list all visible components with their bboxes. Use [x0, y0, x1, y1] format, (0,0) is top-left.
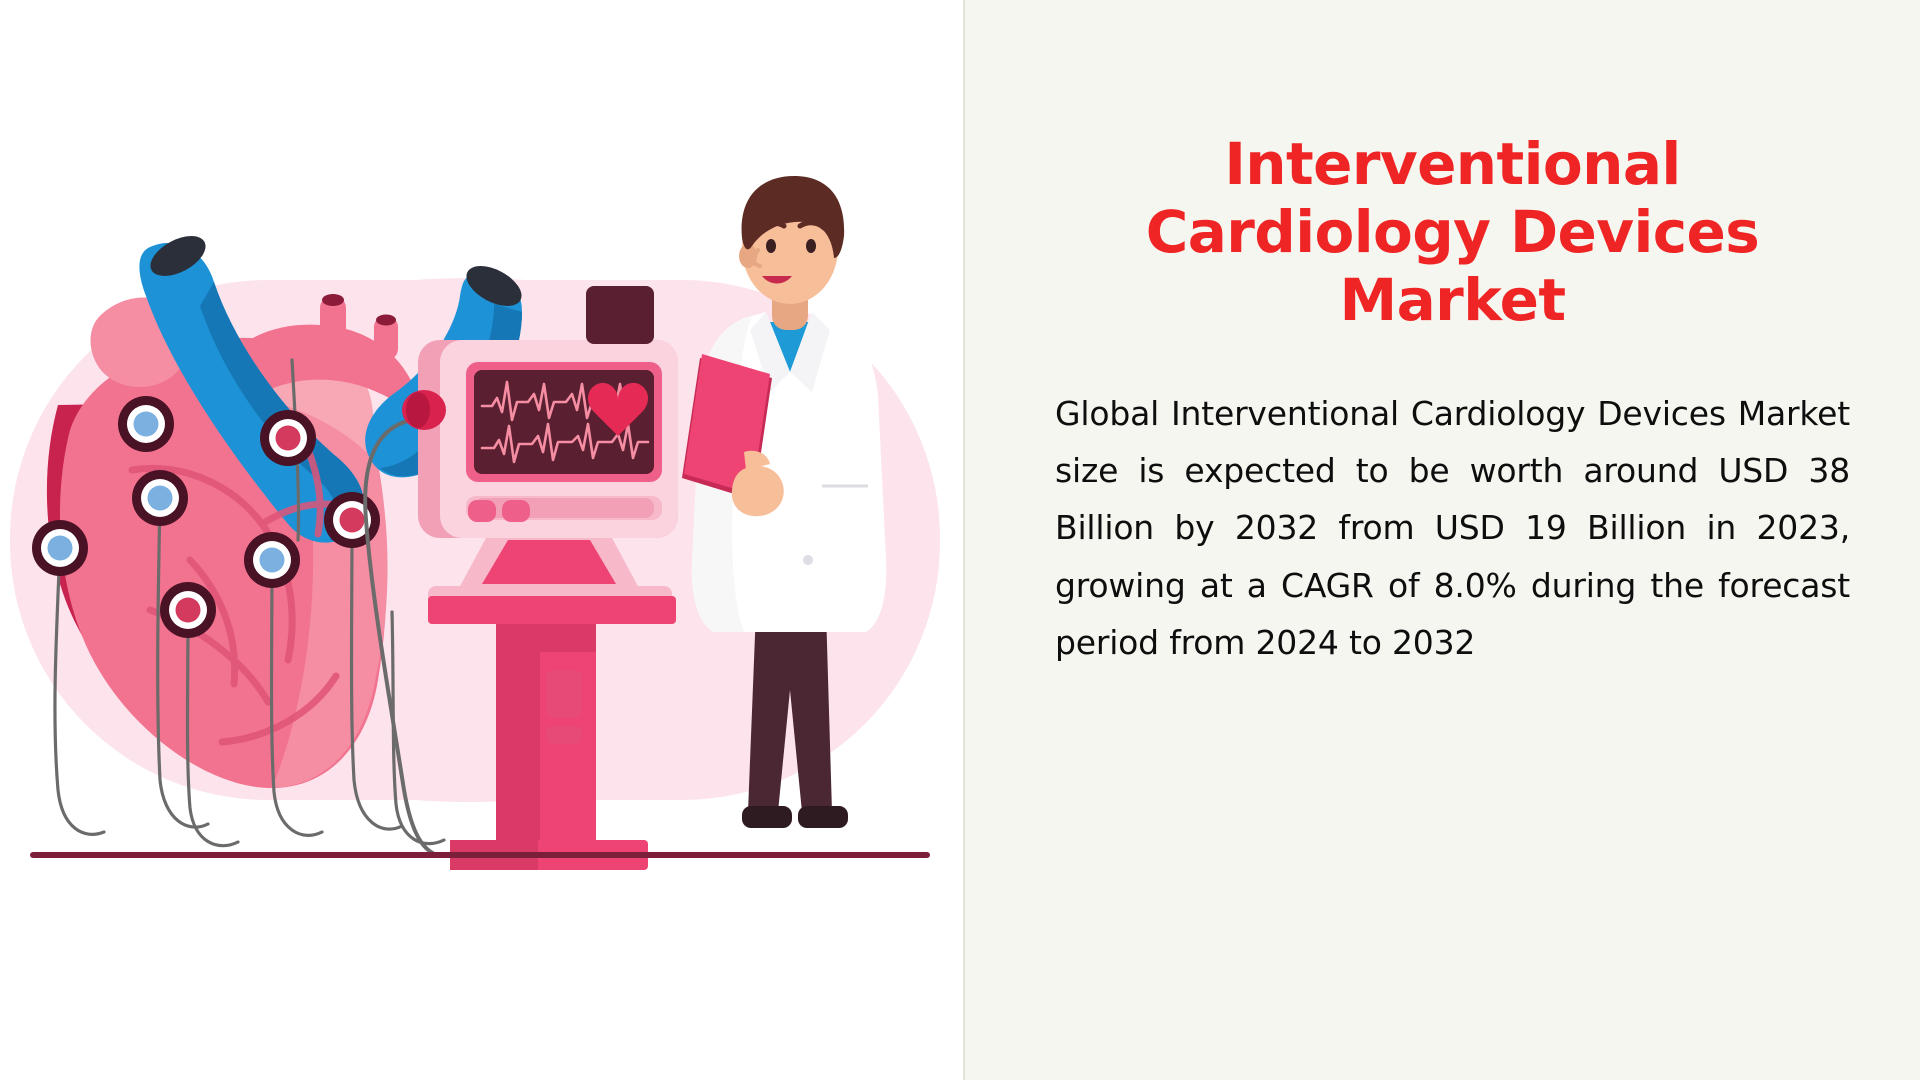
electrode: [244, 532, 300, 588]
electrode: [160, 582, 216, 638]
doctor-shoe: [742, 806, 792, 828]
illustration-panel: [0, 0, 963, 1080]
electrode: [132, 470, 188, 526]
electrode: [324, 492, 380, 548]
doctor-shoe: [798, 806, 848, 828]
coat-button: [803, 555, 813, 565]
doctor-hand: [732, 466, 784, 516]
content-panel: Interventional Cardiology Devices Market…: [965, 0, 1920, 1080]
market-summary-text: Global Interventional Cardiology Devices…: [1055, 335, 1850, 672]
control-bar-inset: [474, 498, 654, 518]
content-wrapper: Interventional Cardiology Devices Market…: [1055, 131, 1850, 672]
aux-display: [586, 286, 654, 344]
monitor-knob: [402, 390, 446, 430]
cardiology-illustration: [0, 0, 963, 1080]
cart-handle: [546, 726, 582, 744]
cart-column-top: [496, 624, 596, 652]
cart-column-shadow: [496, 624, 540, 852]
doctor-eye: [766, 239, 776, 253]
electrode: [32, 520, 88, 576]
cart-drawer: [546, 670, 582, 718]
control-button: [468, 500, 496, 522]
ground-line: [30, 852, 930, 858]
page-title: Interventional Cardiology Devices Market: [1055, 131, 1850, 335]
poster-canvas: Interventional Cardiology Devices Market…: [0, 0, 1920, 1080]
electrode: [260, 410, 316, 466]
control-button: [502, 500, 530, 522]
cart-tabletop: [428, 596, 676, 624]
doctor-eye: [806, 239, 816, 253]
electrode: [118, 396, 174, 452]
